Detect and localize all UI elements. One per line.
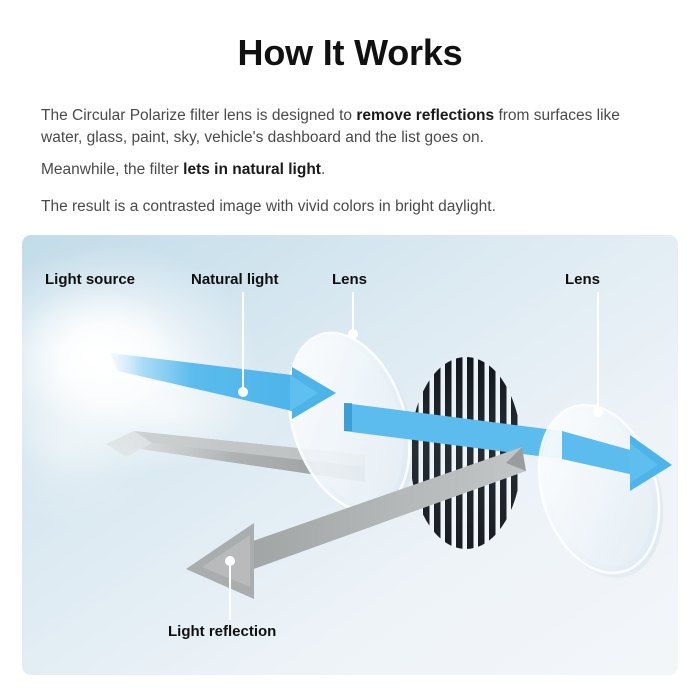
how-it-works-diagram bbox=[22, 235, 678, 675]
paragraph-1: The Circular Polarize filter lens is des… bbox=[41, 105, 663, 149]
paragraph-2: Meanwhile, the filter lets in natural li… bbox=[41, 159, 663, 181]
paragraph-1-before: The Circular Polarize filter lens is des… bbox=[41, 107, 356, 124]
leader-dot-natural-light bbox=[238, 387, 248, 397]
paragraph-2-before: Meanwhile, the filter bbox=[41, 161, 183, 178]
paragraph-2-bold: lets in natural light bbox=[183, 161, 321, 178]
label-light-reflection: Light reflection bbox=[168, 623, 276, 640]
leader-dot-lens-left bbox=[348, 329, 358, 339]
page-title: How It Works bbox=[0, 32, 700, 74]
leader-dot-light-reflection bbox=[225, 556, 235, 566]
how-it-works-page: How It Works The Circular Polarize filte… bbox=[0, 0, 700, 700]
label-natural-light: Natural light bbox=[191, 271, 279, 288]
paragraph-3-text: The result is a contrasted image with vi… bbox=[41, 198, 496, 215]
paragraph-1-bold: remove reflections bbox=[356, 107, 494, 124]
paragraph-3: The result is a contrasted image with vi… bbox=[41, 196, 663, 218]
label-lens-right: Lens bbox=[565, 271, 600, 288]
leader-dot-lens-right bbox=[593, 407, 603, 417]
label-lens-left: Lens bbox=[332, 271, 367, 288]
label-light-source: Light source bbox=[45, 271, 135, 288]
paragraph-2-after: . bbox=[321, 161, 325, 178]
